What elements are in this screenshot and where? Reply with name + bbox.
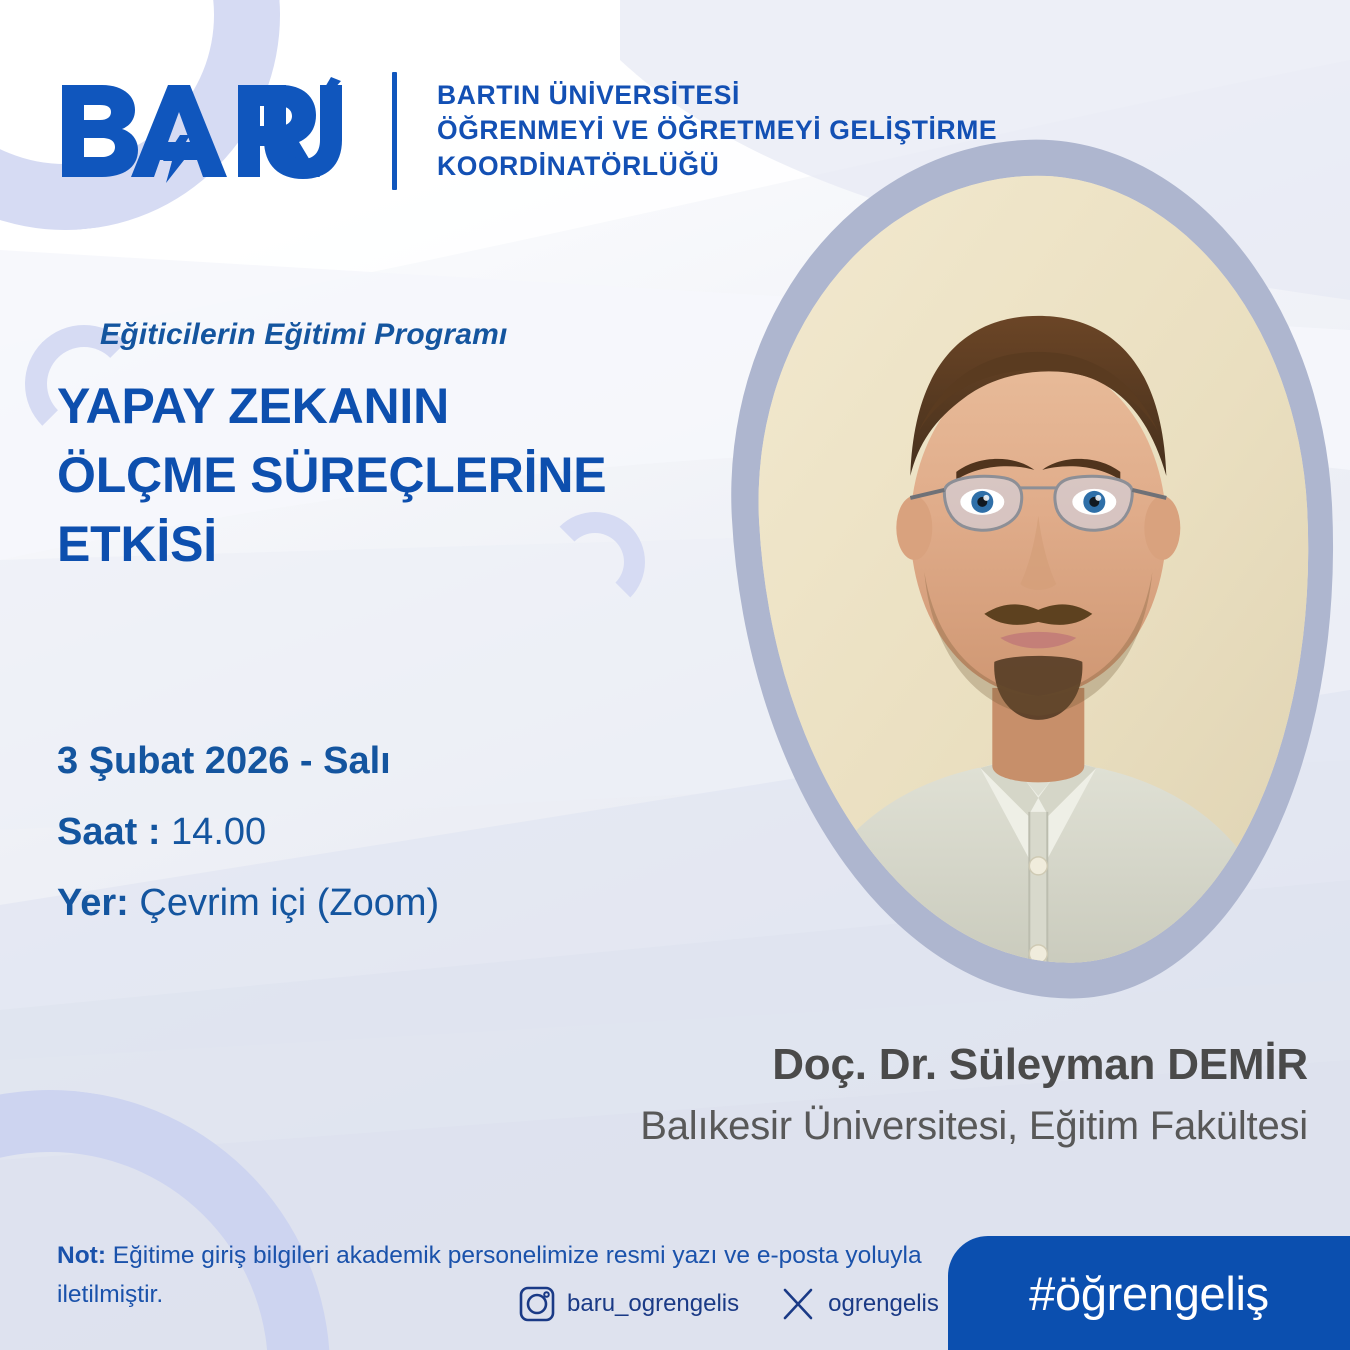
logo-divider xyxy=(392,72,397,190)
event-time-row: Saat : 14.00 xyxy=(57,811,697,854)
organization-name: BARTIN ÜNİVERSİTESİ ÖĞRENMEYİ VE ÖĞRETME… xyxy=(437,78,997,184)
title-line-1: YAPAY ZEKANIN xyxy=(57,372,677,441)
event-title: YAPAY ZEKANIN ÖLÇME SÜREÇLERİNE ETKİSİ xyxy=(57,372,677,579)
title-line-3: ETKİSİ xyxy=(57,510,677,579)
hashtag-text: #öğrengeliş xyxy=(1029,1266,1269,1321)
x-twitter-icon[interactable] xyxy=(779,1285,817,1323)
instagram-icon[interactable] xyxy=(518,1285,556,1323)
x-handle[interactable]: ogrengelis xyxy=(828,1290,939,1318)
baru-logo xyxy=(58,85,346,177)
org-line-1: BARTIN ÜNİVERSİTESİ xyxy=(437,78,997,113)
speaker-photo xyxy=(748,176,1328,976)
event-date: 3 Şubat 2026 - Salı xyxy=(57,740,697,783)
instagram-handle[interactable]: baru_ogrengelis xyxy=(567,1290,739,1318)
footer-note-label: Not: xyxy=(57,1242,106,1269)
social-instagram[interactable]: baru_ogrengelis xyxy=(518,1285,739,1323)
brand-header: BARTIN ÜNİVERSİTESİ ÖĞRENMEYİ VE ÖĞRETME… xyxy=(58,72,997,190)
social-x[interactable]: ogrengelis xyxy=(779,1285,939,1323)
portrait-blob xyxy=(742,162,1330,978)
hashtag-badge: #öğrengeliş xyxy=(948,1236,1350,1350)
baru-logo-mark xyxy=(58,75,346,187)
speaker-block: Doç. Dr. Süleyman DEMİR Balıkesir Üniver… xyxy=(408,1040,1308,1149)
event-poster: BARTIN ÜNİVERSİTESİ ÖĞRENMEYİ VE ÖĞRETME… xyxy=(0,0,1350,1350)
speaker-affiliation: Balıkesir Üniversitesi, Eğitim Fakültesi xyxy=(408,1104,1308,1149)
event-place-value: Çevrim içi (Zoom) xyxy=(139,882,439,924)
org-line-2: ÖĞRENMEYİ VE ÖĞRETMEYİ GELİŞTİRME xyxy=(437,113,997,148)
speaker-name: Doç. Dr. Süleyman DEMİR xyxy=(408,1040,1308,1090)
title-line-2: ÖLÇME SÜREÇLERİNE xyxy=(57,441,677,510)
program-kicker: Eğiticilerin Eğitimi Programı xyxy=(100,318,508,352)
social-links: baru_ogrengelis ogrengelis xyxy=(518,1285,939,1323)
event-place-row: Yer: Çevrim içi (Zoom) xyxy=(57,882,697,925)
event-time-label: Saat : xyxy=(57,811,160,853)
event-place-label: Yer: xyxy=(57,882,129,924)
event-details: 3 Şubat 2026 - Salı Saat : 14.00 Yer: Çe… xyxy=(57,740,697,925)
event-time-value: 14.00 xyxy=(171,811,266,853)
